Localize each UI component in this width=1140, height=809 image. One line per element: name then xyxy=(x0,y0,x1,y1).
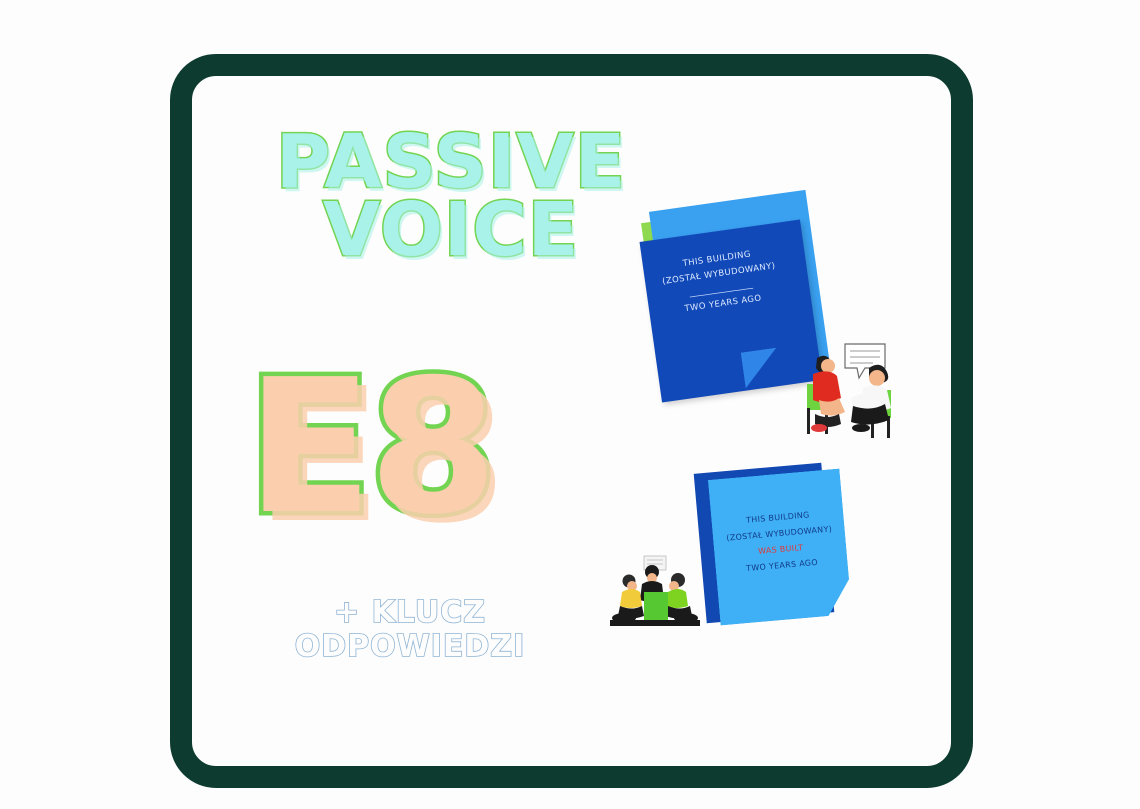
two-people-talking-illustration xyxy=(793,328,911,440)
sticky-note-answer: THIS BUILDING (ZOSTAŁ WYBUDOWANY) WAS BU… xyxy=(690,458,940,648)
note-bottom-line-1: THIS BUILDING xyxy=(746,510,810,525)
page-title-line-2: VOICE xyxy=(236,196,666,264)
exam-code-label: E8 xyxy=(225,355,515,540)
note-bottom-line-3: TWO YEARS AGO xyxy=(746,558,818,573)
person-yellow xyxy=(612,575,644,624)
note-answer-text: THIS BUILDING (ZOSTAŁ WYBUDOWANY) WAS BU… xyxy=(713,505,846,580)
person-green xyxy=(666,573,698,623)
answer-key-label: + KLUCZ ODPOWIEDZI xyxy=(260,596,560,663)
page-title-line-1: PASSIVE xyxy=(236,128,666,196)
person-red xyxy=(807,356,845,434)
three-people-table-illustration xyxy=(600,548,710,634)
answer-key-line-1: + KLUCZ xyxy=(260,596,560,630)
answer-key-line-2: ODPOWIEDZI xyxy=(260,630,560,664)
page-title: PASSIVE VOICE xyxy=(236,128,666,264)
poster-canvas: PASSIVE VOICE E8 + KLUCZ ODPOWIEDZI THIS… xyxy=(0,0,1140,809)
person-white xyxy=(851,365,891,438)
